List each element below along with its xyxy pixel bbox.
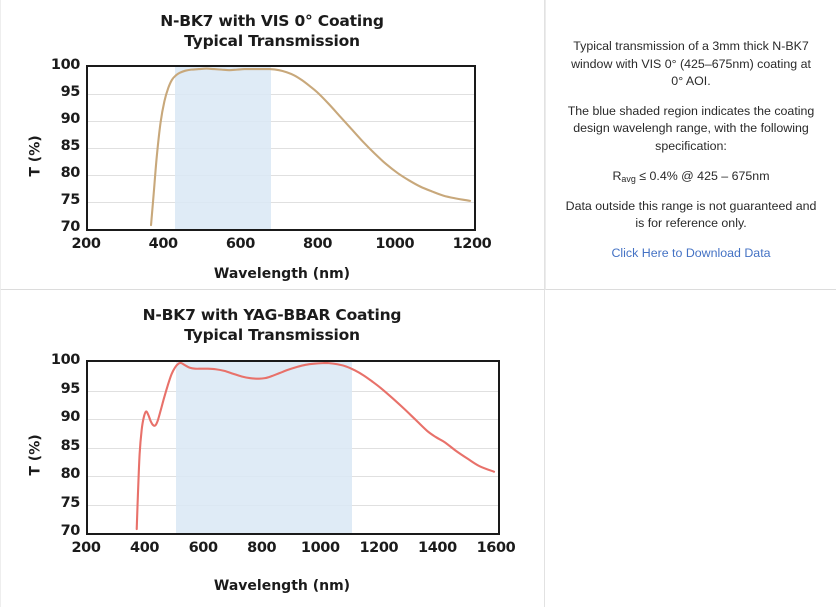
y-axis-tick: 95: [36, 84, 80, 100]
x-axis-tick: 200: [71, 236, 100, 252]
chart-title-line1: N-BK7 with VIS 0° Coating: [0, 12, 544, 32]
chart-cell-vis: N-BK7 with VIS 0° Coating Typical Transm…: [0, 0, 545, 290]
y-axis-tick: 90: [36, 111, 80, 127]
y-axis-tick: 75: [36, 192, 80, 208]
x-axis-tick: 800: [303, 236, 332, 252]
shaded-note-vis: The blue shaded region indicates the coa…: [564, 103, 818, 156]
plot-area-yag: [86, 360, 500, 535]
download-data-link-vis[interactable]: Click Here to Download Data: [611, 246, 770, 260]
y-axis-tick: 70: [36, 523, 80, 539]
y-axis-tick: 100: [36, 57, 80, 73]
x-axis-tick: 1000: [301, 540, 340, 556]
y-axis-label-vis: T (%): [28, 135, 44, 176]
chart-cell-yag: N-BK7 with YAG-BBAR Coating Typical Tran…: [0, 290, 545, 607]
x-axis-tick: 1600: [477, 540, 516, 556]
windows-activation-watermark: 激活 V 转到"设置: [0, 544, 1, 593]
data-curve: [151, 69, 470, 226]
chart-title-line2: Typical Transmission: [0, 32, 544, 52]
curve-yag: [88, 362, 498, 533]
chart-title-yag: N-BK7 with YAG-BBAR Coating Typical Tran…: [0, 306, 544, 346]
x-axis-label-yag: Wavelength (nm): [60, 578, 504, 594]
chart-yag: N-BK7 with YAG-BBAR Coating Typical Tran…: [0, 290, 544, 607]
x-axis-tick: 600: [226, 236, 255, 252]
x-axis-tick: 800: [247, 540, 276, 556]
description-cell-vis: Typical transmission of a 3mm thick N-BK…: [545, 0, 836, 290]
x-axis-label-vis: Wavelength (nm): [60, 266, 504, 282]
x-axis-tick: 1000: [375, 236, 414, 252]
watermark-line2: 转到"设置: [0, 571, 1, 593]
data-curve: [137, 363, 494, 529]
curve-vis: [88, 67, 474, 229]
y-axis-label-yag: T (%): [28, 434, 44, 475]
x-axis-tick: 400: [149, 236, 178, 252]
chart-vis: N-BK7 with VIS 0° Coating Typical Transm…: [0, 0, 544, 289]
intro-text-vis: Typical transmission of a 3mm thick N-BK…: [564, 38, 818, 91]
spec-line: Ravg ≤ 0.4% @ 425 – 675nm: [564, 168, 818, 186]
plot-area-vis: [86, 65, 476, 231]
y-axis-tick: 95: [36, 381, 80, 397]
chart-title-line2: Typical Transmission: [0, 326, 544, 346]
disclaimer-vis: Data outside this range is not guarantee…: [564, 198, 818, 233]
description-cell-yag: Typical transmission of a 3mm thick N-BK…: [0, 0, 1, 607]
x-axis-tick: 400: [130, 540, 159, 556]
y-axis-tick: 100: [36, 352, 80, 368]
y-axis-tick: 90: [36, 409, 80, 425]
x-axis-tick: 1400: [418, 540, 457, 556]
chart-title-line1: N-BK7 with YAG-BBAR Coating: [0, 306, 544, 326]
x-axis-tick: 600: [189, 540, 218, 556]
y-axis-tick: 70: [36, 219, 80, 235]
chart-title-vis: N-BK7 with VIS 0° Coating Typical Transm…: [0, 12, 544, 52]
watermark-line1: 激活 V: [0, 547, 1, 568]
description-vis: Typical transmission of a 3mm thick N-BK…: [546, 38, 836, 262]
transmission-spec-table: N-BK7 with VIS 0° Coating Typical Transm…: [0, 0, 836, 607]
spec-list-vis: Ravg ≤ 0.4% @ 425 – 675nm: [564, 168, 818, 186]
x-axis-tick: 1200: [453, 236, 492, 252]
x-axis-tick: 1200: [359, 540, 398, 556]
y-axis-tick: 75: [36, 495, 80, 511]
x-axis-tick: 200: [71, 540, 100, 556]
